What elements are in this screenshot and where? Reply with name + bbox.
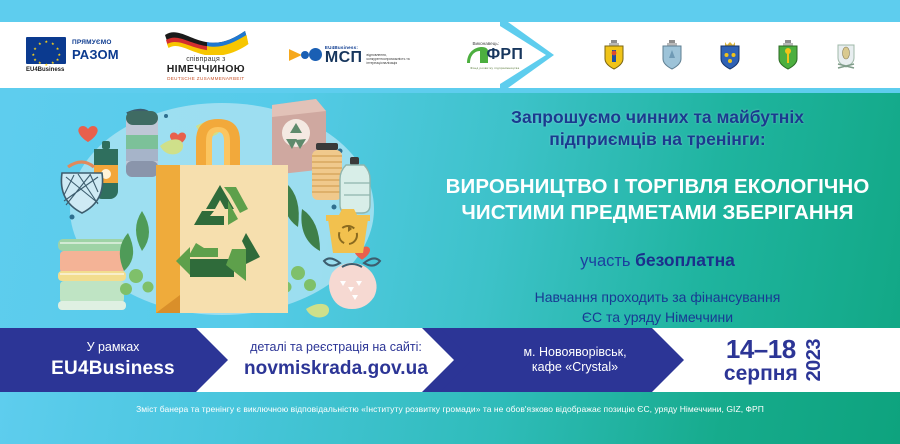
frp-row: ФРП: [466, 46, 523, 64]
date-days: 14–18: [726, 336, 796, 363]
header-top-strip: [0, 0, 900, 22]
framework-small: У рамках: [87, 340, 140, 355]
logo-msp: EU4Business: МСП відновлення, конкуренто…: [289, 45, 421, 66]
msp-arrow-dots-icon: [289, 46, 323, 64]
date-month: серпня: [724, 363, 798, 384]
framework-cell: У рамках EU4Business: [18, 328, 208, 392]
footer-disclaimer: Зміст банера та тренінгу є виключною від…: [0, 404, 900, 414]
date-year: 2023: [802, 339, 826, 382]
frp-acronym: ФРП: [486, 47, 523, 63]
free-strong: безоплатна: [635, 250, 735, 270]
participation-fee: участь безоплатна: [415, 250, 900, 271]
funding-line1: Навчання проходить за фінансування: [415, 288, 900, 308]
main-content-area: Запрошуємо чинних та майбутніх підприємц…: [0, 93, 900, 328]
partner-logos: ПРЯМУЄМО РАЗОМ EU4Business співпраця з Н…: [0, 22, 500, 88]
banner-root: ПРЯМУЄМО РАЗОМ EU4Business співпраця з Н…: [0, 0, 900, 444]
training-title: ВИРОБНИЦТВО І ТОРГІВЛЯ ЕКОЛОГІЧНО ЧИСТИМ…: [415, 174, 900, 227]
eu-tagline-main: РАЗОМ: [72, 48, 119, 61]
coat-of-arms-2: [660, 40, 684, 70]
registration-url[interactable]: novmiskrada.gov.ua: [244, 357, 428, 380]
logo-eu4business: ПРЯМУЄМО РАЗОМ EU4Business: [26, 37, 119, 73]
logo-eu4business-text: ПРЯМУЄМО РАЗОМ: [72, 40, 119, 61]
venue-line2: кафе «Crystal»: [532, 360, 618, 375]
german-coop-line1: співпраця з: [186, 56, 225, 63]
free-prefix: участь: [580, 252, 635, 270]
registration-cell[interactable]: деталі та реєстрація на сайті: novmiskra…: [216, 328, 456, 392]
info-chevron-band: У рамках EU4Business деталі та реєстраці…: [0, 328, 900, 392]
coat-of-arms-4: [776, 40, 800, 70]
frp-green-arc-icon: [466, 46, 488, 64]
coat-of-arms-5: [834, 40, 858, 70]
german-coop-line2: НІМЕЧЧИНОЮ: [167, 63, 245, 75]
logo-frp: Виконавець: ФРП Фонд розвитку підприємни…: [466, 41, 523, 70]
coat-of-arms-1: [602, 40, 626, 70]
main-copy: Запрошуємо чинних та майбутніх підприємц…: [415, 93, 900, 328]
eco-shopping-bag-recycle-illustration: [10, 93, 410, 328]
logo-german-cooperation: співпраця з НІМЕЧЧИНОЮ DEUTSCHE ZUSAMMEN…: [163, 29, 249, 81]
title-line2: ЧИСТИМИ ПРЕДМЕТАМИ ЗБЕРІГАННЯ: [415, 200, 900, 227]
invite-line1: Запрошуємо чинних та майбутніх: [415, 106, 900, 128]
venue-line1: м. Новояворівськ,: [523, 345, 626, 360]
frp-subtitle: Фонд розвитку підприємництва: [470, 66, 519, 70]
date-cell: 14–18 серпня 2023: [700, 328, 850, 392]
german-coop-line3: DEUTSCHE ZUSAMMENARBEIT: [167, 76, 244, 81]
msp-text-block: EU4Business: МСП відновлення, конкуренто…: [325, 45, 421, 66]
invite-text: Запрошуємо чинних та майбутніх підприємц…: [415, 106, 900, 151]
msp-description: відновлення, конкурентоспроможність та і…: [366, 53, 420, 66]
footer-bar: [0, 392, 900, 444]
msp-row: МСП відновлення, конкурентоспроможність …: [325, 50, 421, 66]
coat-of-arms-3: [718, 40, 742, 70]
funding-note: Навчання проходить за фінансування ЄС та…: [415, 288, 900, 327]
german-ukrainian-ribbon-icon: [163, 29, 249, 55]
eu4business-subtitle: EU4Business: [26, 67, 119, 73]
msp-acronym: МСП: [325, 50, 363, 66]
title-line1: ВИРОБНИЦТВО І ТОРГІВЛЯ ЕКОЛОГІЧНО: [415, 174, 900, 201]
registration-small: деталі та реєстрація на сайті:: [250, 340, 422, 355]
eu-tagline-top: ПРЯМУЄМО: [72, 40, 119, 47]
coats-of-arms-row: [596, 22, 896, 88]
date-column: 14–18 серпня: [724, 336, 798, 384]
venue-cell: м. Новояворівськ, кафе «Crystal»: [462, 328, 688, 392]
eu-flag-stars-icon: [26, 37, 66, 64]
invite-line2: підприємців на тренінги:: [415, 128, 900, 150]
logo-eu4business-row: ПРЯМУЄМО РАЗОМ: [26, 37, 119, 64]
funding-line2: ЄС та уряду Німеччини: [415, 308, 900, 328]
framework-big: EU4Business: [51, 357, 175, 380]
